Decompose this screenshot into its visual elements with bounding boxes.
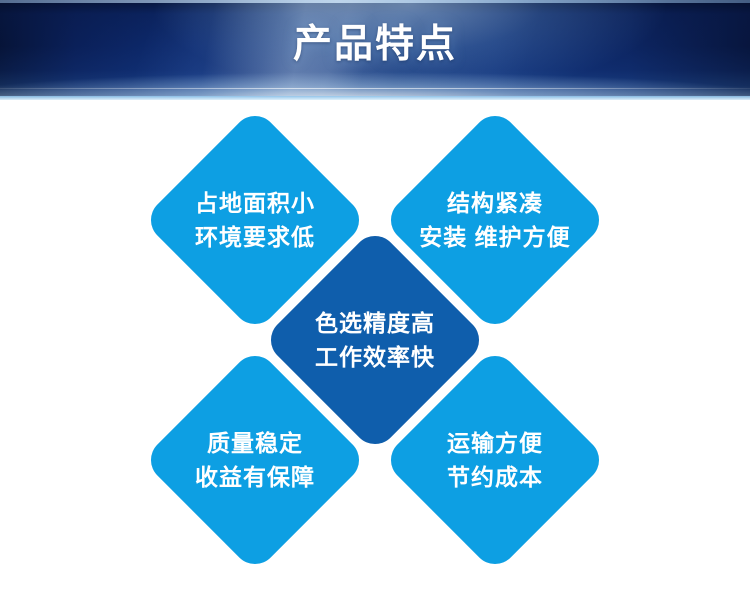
feature-label-top-left: 占地面积小 环境要求低 (175, 140, 335, 300)
feature-line: 安装 维护方便 (419, 220, 570, 254)
feature-line: 质量稳定 (207, 426, 303, 460)
feature-label-top-right: 结构紧凑 安装 维护方便 (415, 140, 575, 300)
feature-line: 占地面积小 (195, 186, 315, 220)
product-features-slide: 产品特点 占地面积小 环境要求低 结构紧凑 安装 维护方便 质量稳定 收益有保障 (0, 0, 750, 598)
feature-label-bottom-right: 运输方便 节约成本 (415, 380, 575, 540)
header-banner: 产品特点 (0, 0, 750, 100)
banner-top-highlight-line (0, 0, 750, 3)
feature-line: 环境要求低 (195, 220, 315, 254)
banner-hairline (0, 88, 750, 89)
feature-line: 收益有保障 (195, 460, 315, 494)
feature-line: 节约成本 (447, 460, 543, 494)
feature-diamond-diagram: 占地面积小 环境要求低 结构紧凑 安装 维护方便 质量稳定 收益有保障 运输方便… (0, 100, 750, 598)
page-title: 产品特点 (0, 22, 750, 68)
feature-label-bottom-left: 质量稳定 收益有保障 (175, 380, 335, 540)
feature-label-center: 色选精度高 工作效率快 (295, 260, 455, 420)
feature-line: 结构紧凑 (447, 186, 543, 220)
feature-line: 色选精度高 (315, 306, 435, 340)
feature-line: 工作效率快 (315, 340, 435, 374)
feature-line: 运输方便 (447, 426, 543, 460)
